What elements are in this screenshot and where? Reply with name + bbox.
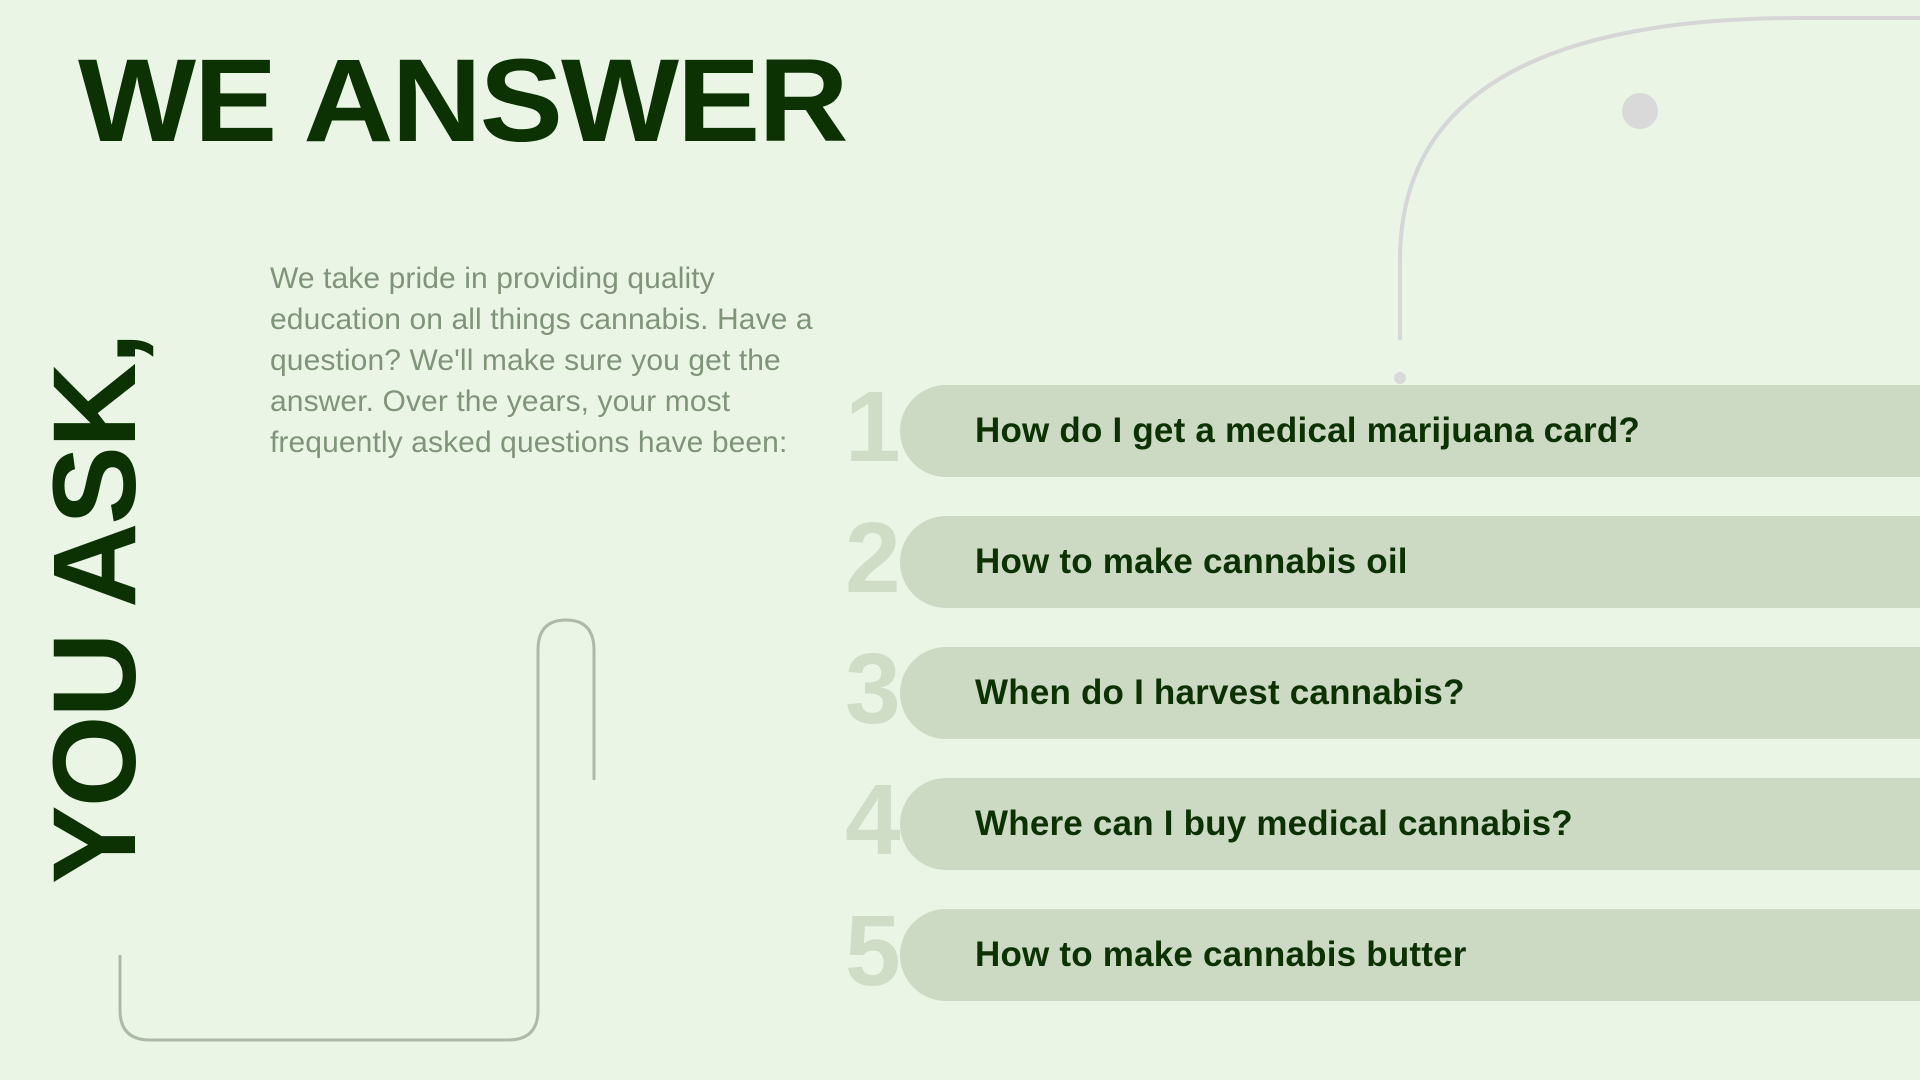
faq-item[interactable]: 3 When do I harvest cannabis? <box>845 647 1920 739</box>
faq-bar[interactable]: How do I get a medical marijuana card? <box>900 385 1920 477</box>
faq-question: How to make cannabis butter <box>900 935 1467 975</box>
dot-icon <box>1394 372 1406 384</box>
faq-number: 2 <box>845 512 901 604</box>
side-title: YOU ASK, <box>36 214 154 1004</box>
faq-item[interactable]: 2 How to make cannabis oil <box>845 516 1920 608</box>
faq-item[interactable]: 4 Where can I buy medical cannabis? <box>845 778 1920 870</box>
circle-node-icon <box>1622 93 1658 129</box>
faq-number: 1 <box>845 381 901 473</box>
faq-bar[interactable]: Where can I buy medical cannabis? <box>900 778 1920 870</box>
faq-question: When do I harvest cannabis? <box>900 673 1465 713</box>
faq-item[interactable]: 1 How do I get a medical marijuana card? <box>845 385 1920 477</box>
faq-number: 3 <box>845 643 901 735</box>
faq-list: 1 How do I get a medical marijuana card?… <box>845 385 1920 1040</box>
faq-item[interactable]: 5 How to make cannabis butter <box>845 909 1920 1001</box>
faq-number: 5 <box>845 905 901 997</box>
faq-bar[interactable]: How to make cannabis oil <box>900 516 1920 608</box>
faq-question: How do I get a medical marijuana card? <box>900 411 1640 451</box>
intro-paragraph: We take pride in providing quality educa… <box>270 258 830 463</box>
side-title-wrapper: YOU ASK, <box>0 160 200 930</box>
faq-bar[interactable]: How to make cannabis butter <box>900 909 1920 1001</box>
faq-number: 4 <box>845 774 901 866</box>
elbow-line-icon <box>1400 18 1920 340</box>
faq-bar[interactable]: When do I harvest cannabis? <box>900 647 1920 739</box>
faq-question: How to make cannabis oil <box>900 542 1408 582</box>
page-title: WE ANSWER <box>78 42 846 160</box>
faq-question: Where can I buy medical cannabis? <box>900 804 1573 844</box>
